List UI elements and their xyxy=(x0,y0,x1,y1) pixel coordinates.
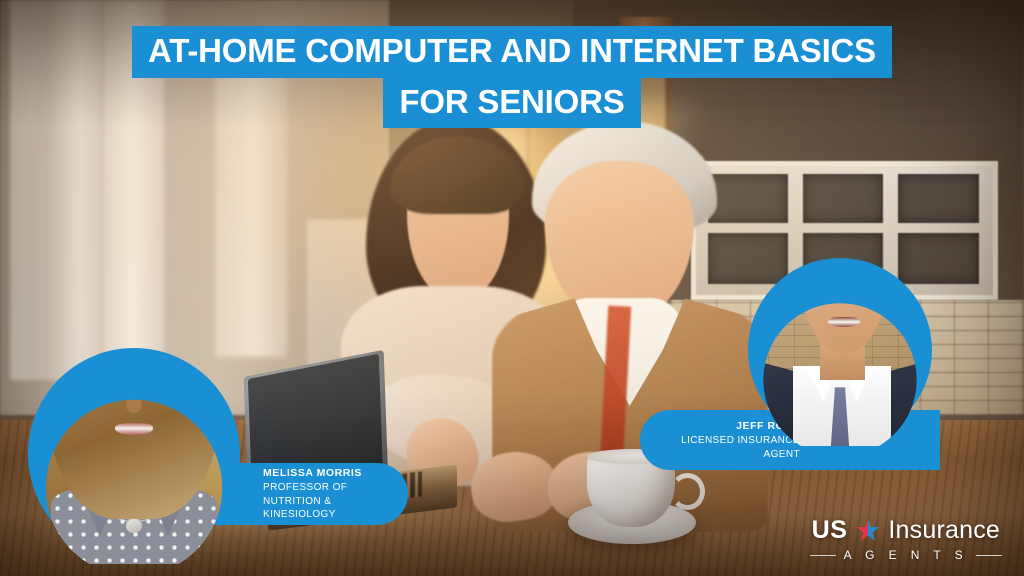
star-icon-blue-half xyxy=(856,519,879,542)
star-icon xyxy=(856,519,879,542)
expert-role-line-2: KINESIOLOGY xyxy=(263,508,364,522)
mouth xyxy=(828,317,859,327)
logo-agents-text: A G E N T S xyxy=(844,548,968,562)
nose xyxy=(126,396,142,413)
expert-name: MELISSA MORRIS xyxy=(263,466,364,481)
avatar-melissa-morris xyxy=(28,348,240,560)
banner-graphic: AT-HOME COMPUTER AND INTERNET BASICS FOR… xyxy=(0,0,1024,576)
expert-role-line-2: AGENT xyxy=(658,448,800,462)
title-line-1: AT-HOME COMPUTER AND INTERNET BASICS xyxy=(132,26,892,78)
expert-role-line-1: PROFESSOR OF NUTRITION & xyxy=(263,481,364,508)
logo-us-text: US xyxy=(812,516,848,545)
eye xyxy=(143,371,159,381)
logo-insurance-text: Insurance xyxy=(888,516,1000,545)
eyebrow xyxy=(140,360,162,365)
logo-rule-right xyxy=(976,555,1002,556)
eyebrow xyxy=(848,267,866,271)
eye xyxy=(815,276,828,283)
avatar-photo xyxy=(748,258,932,442)
eye xyxy=(98,371,114,381)
avatar-photo xyxy=(28,348,240,560)
title-line-2: FOR SENIORS xyxy=(383,77,640,129)
eyebrow xyxy=(95,360,117,365)
page-title: AT-HOME COMPUTER AND INTERNET BASICS FOR… xyxy=(0,26,1024,128)
avatar-jeff-root xyxy=(748,258,932,442)
eyebrow xyxy=(812,267,830,271)
logo-rule-left xyxy=(810,555,836,556)
us-insurance-agents-logo[interactable]: US Insurance A G E N T S xyxy=(810,516,1002,562)
